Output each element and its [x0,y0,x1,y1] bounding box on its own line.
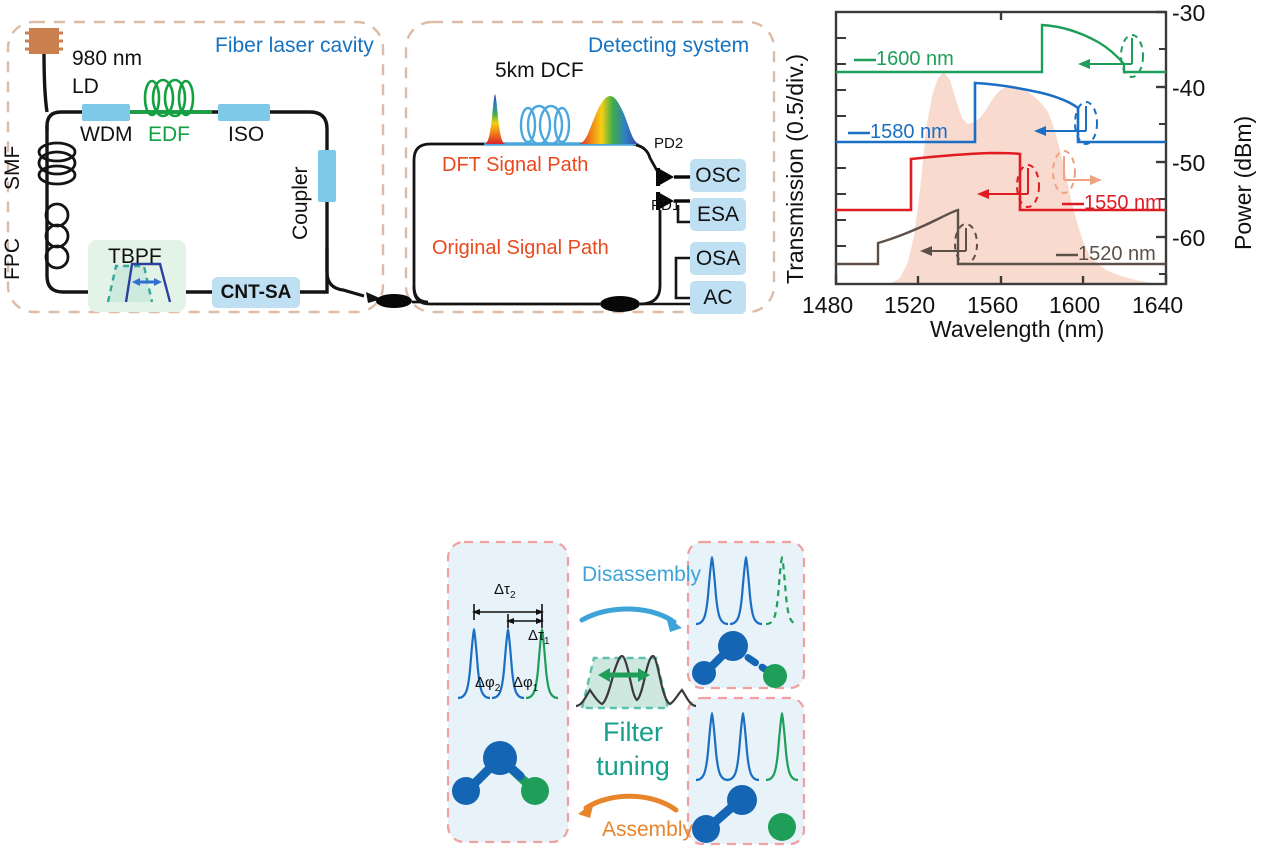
ld-pigtail [44,52,47,112]
ld-chip [25,28,63,54]
detecting-title: Detecting system [588,35,749,56]
pd1-label: PD1 [651,198,680,213]
filter-passband-shape [582,658,668,708]
legend-label-1520nm: 1520 nm [1078,243,1156,266]
soliton-molecule-diagram: Disassembly Assembly Filter tuning Δτ2 Δ… [430,520,830,860]
filter-tuning-graphic [576,656,696,708]
y2-axis-title: Power (dBm) [1232,116,1255,250]
ld-label-line1: 980 nm [72,48,142,69]
legend-label-1580nm: 1580 nm [870,121,948,144]
original-path-to-pd1 [640,210,660,304]
xtick-1520: 1520 [884,292,935,319]
phi2-symbol: Δφ [475,674,495,691]
fpc-paddles [46,204,68,268]
legend-label-1600nm: 1600 nm [876,48,954,71]
delta-phi1-label: Δφ1 [513,675,538,694]
coupler-device [318,150,336,202]
pd2-photodiode [658,168,690,186]
iso-device [218,104,270,121]
phi2-subscript: 2 [495,683,501,694]
dcf-label: 5km DCF [495,60,584,81]
dft-path-label: DFT Signal Path [442,155,588,175]
xtick-1600: 1600 [1049,292,1100,319]
xtick-1560: 1560 [967,292,1018,319]
instrument-osc[interactable]: OSC [690,159,746,192]
disassembly-arrowhead [666,616,682,632]
tau1-subscript: 1 [544,636,550,647]
ytick-minus40: -40 [1172,75,1205,102]
ytick-minus50: -50 [1172,150,1205,177]
original-path-label: Original Signal Path [432,238,609,258]
x-axis-title: Wavelength (nm) [930,318,1104,341]
delta-tau2-label: Δτ2 [494,582,516,601]
delta-phi2-label: Δφ2 [475,675,500,694]
phi1-symbol: Δφ [513,674,533,691]
spectra-chart: 1600 nm 1580 nm 1550 nm 1520 nm 1480 152… [780,0,1266,340]
molecule-node-center [483,741,517,775]
connector-ellipse-right [600,296,640,312]
pulse-broad-spectrum [578,96,640,144]
iso-label: ISO [228,124,264,145]
xtick-1640: 1640 [1132,292,1183,319]
ld-label-line2: LD [72,76,99,97]
molecule-node-left [452,777,480,805]
setup-schematic: CNT-SA OSC ESA OSA AC Fiber laser cavity… [0,0,790,340]
annotation-tuning-arrowhead [1090,175,1102,185]
smf-coil [39,143,75,184]
wdm-device [82,104,130,121]
ytick-minus30: -30 [1172,0,1205,27]
assembly-label: Assembly [602,819,693,840]
instrument-osa[interactable]: OSA [690,242,746,275]
instrument-esa[interactable]: ESA [690,198,746,231]
pd2-label: PD2 [654,136,683,151]
pulse-narrow-spectrum [484,94,506,144]
filter-tuning-label-line2: tuning [582,752,684,780]
ytick-minus60: -60 [1172,225,1205,252]
assembly-arrowhead [578,802,594,818]
coupler-output-fiber [327,250,364,296]
disassembly-label: Disassembly [582,564,701,585]
delta-tau1-label: Δτ1 [528,628,550,647]
filter-tuning-label-line1: Filter [588,718,678,746]
smf-label: SMF [2,146,23,190]
original-signal-path-fiber [414,286,600,304]
tau1-symbol: Δτ [528,627,544,644]
dcf-coil [521,106,569,144]
phi1-subscript: 1 [533,683,539,694]
fpc-label: FPC [2,238,23,280]
osa-ac-bracket [676,258,690,298]
xtick-1480: 1480 [802,292,853,319]
molecule-node-right [521,777,549,805]
cnt-sa-device: CNT-SA [212,277,300,308]
cavity-title: Fiber laser cavity [215,35,374,56]
assembly-arrow-curve [586,796,676,810]
annotation-1600nm-arrowhead [1078,59,1090,69]
tau2-subscript: 2 [510,590,516,601]
disassembly-arrow-curve [582,609,674,622]
instrument-ac[interactable]: AC [690,281,746,314]
legend-label-1550nm: 1550 nm [1084,192,1162,215]
coupler-label: Coupler [290,166,311,240]
tbpf-label: TBPF [108,246,162,267]
fiber-cntsa-to-coupler [300,250,327,292]
edf-label: EDF [148,124,190,145]
connector-ellipse-left [376,294,412,308]
tau2-symbol: Δτ [494,581,510,598]
y-axis-title: Transmission (0.5/div.) [784,54,807,284]
wdm-label: WDM [80,124,132,145]
